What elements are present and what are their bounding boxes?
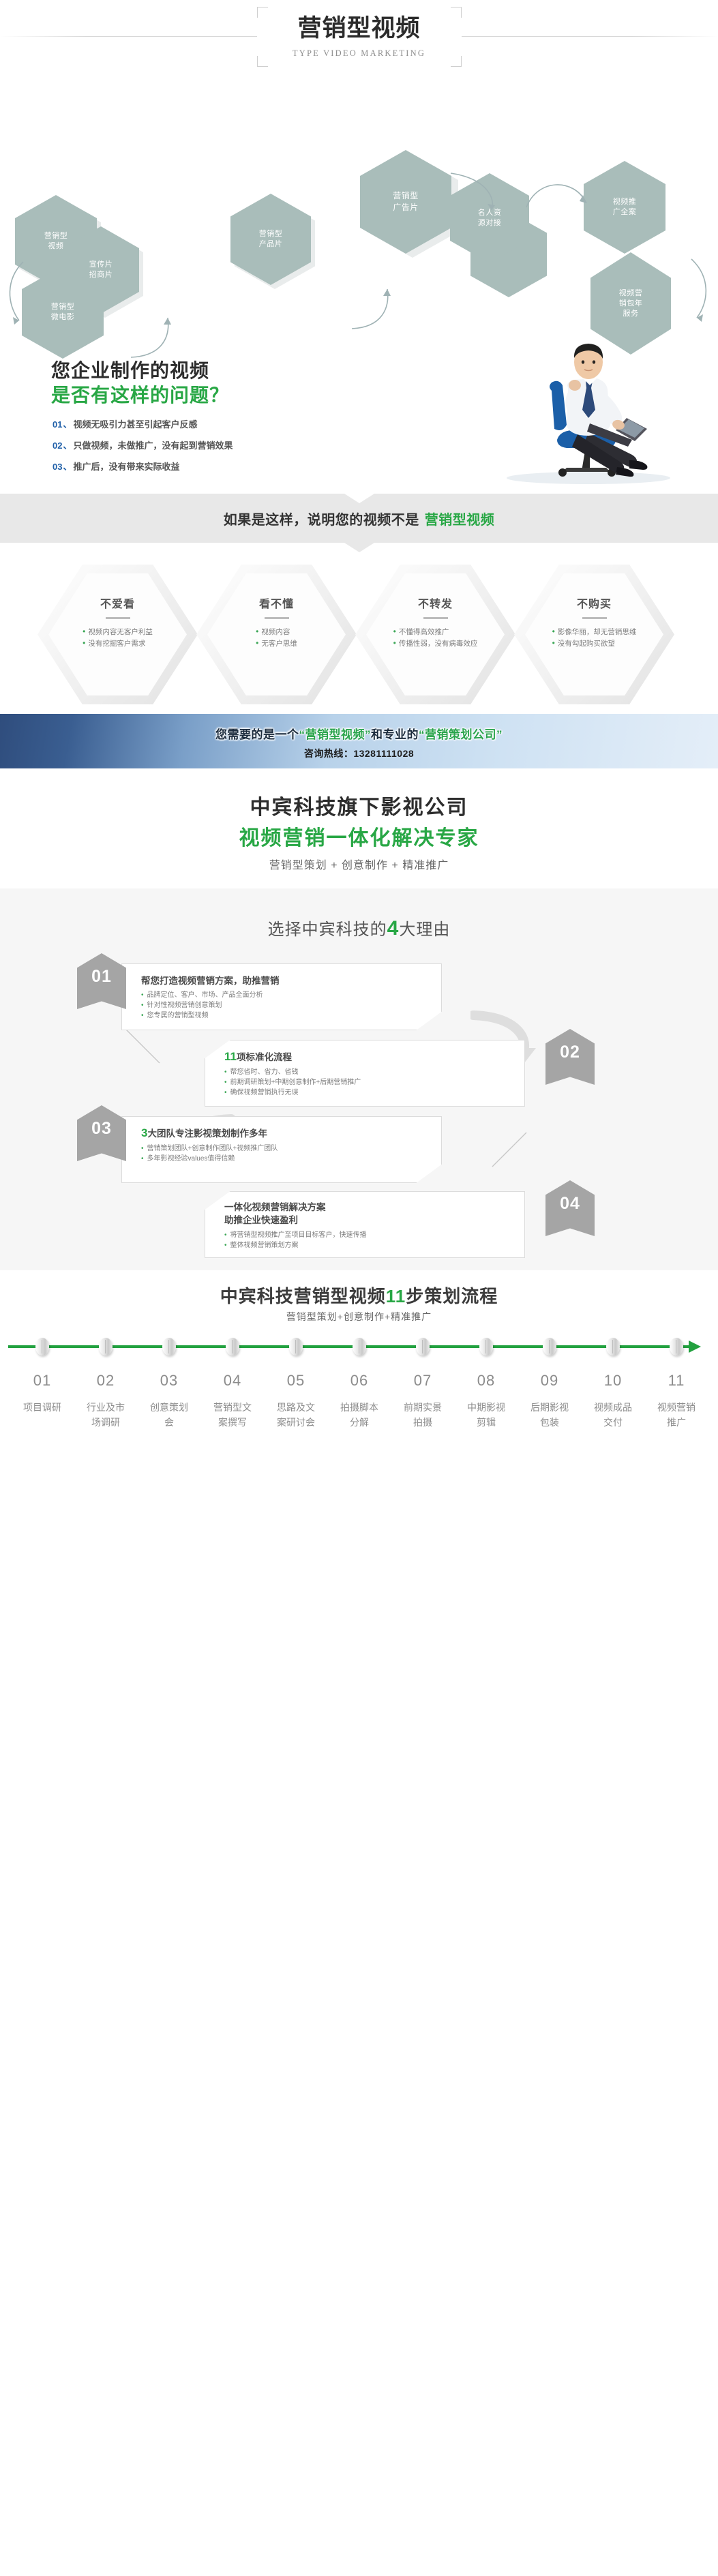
step-number: 04 [212, 1371, 253, 1390]
timeline-node-icon [162, 1338, 176, 1356]
ribbon-notch-bottom-icon [344, 543, 374, 552]
list-item: 将营销型视频推广至项目目标客户，快速传播 [224, 1230, 524, 1240]
step-label: 项目调研 [22, 1400, 63, 1415]
list-item: 确保视频营销执行无误 [224, 1088, 524, 1098]
corner-bracket-icon [451, 7, 462, 18]
timeline-node-icon [289, 1338, 303, 1356]
cta-text-a: 您需要的是一个 [215, 728, 299, 741]
timeline-step-2[interactable]: 03 创意策划会 [149, 1371, 190, 1430]
problem-heading-line1: 您企业制作的视频 [51, 356, 209, 383]
company-line2: 视频营销一体化解决专家 [0, 823, 718, 854]
timeline-node-icon [606, 1338, 620, 1356]
hex-label: 视频推 广全案 [613, 197, 637, 218]
step-number: 03 [149, 1371, 190, 1390]
problem-statement-section: 您企业制作的视频 是否有这样的问题？ 01 、 视频无吸引力甚至引起客户反感 0… [0, 341, 718, 484]
step-label: 创意策划会 [149, 1400, 190, 1430]
page-title: 营销型视频 [257, 7, 462, 46]
timeline-step-9[interactable]: 10 视频成品交付 [593, 1371, 633, 1430]
list-item: 传播性弱，没有病毒效应 [393, 638, 478, 649]
reasons-title-suffix: 大理由 [399, 920, 450, 939]
card-heading-text: 大团队专注影视策划制作多年 [147, 1128, 267, 1139]
cta-hotline[interactable]: 咨询热线：13281111028 [0, 747, 718, 760]
card-body: 不转发 不懂得高效推广 传播性弱，没有病毒效应 [355, 565, 515, 704]
reason-badge-2: 03 [77, 1105, 126, 1161]
step-label: 前期实景拍摄 [402, 1400, 443, 1430]
list-item: 前期调研策划+中期创意制作+后期营销推广 [224, 1077, 524, 1088]
company-line3: 营销型策划 + 创意制作 + 精准推广 [0, 854, 718, 878]
timeline-step-10[interactable]: 11 视频营销推广 [656, 1371, 697, 1430]
card-bullet-list: 视频内容无客户利益 没有挖掘客户需求 [83, 626, 153, 649]
card-bullet-list: 将营销型视频推广至项目目标客户，快速传播 整体视频营销策划方案 [224, 1230, 524, 1250]
card-heading: 帮您打造视频营销方案，助推营销 [141, 973, 441, 987]
step-number: 10 [593, 1371, 633, 1390]
connector-line [488, 1131, 529, 1173]
card-title: 不转发 [418, 595, 453, 611]
reason-badge-3: 04 [545, 1180, 595, 1236]
card-heading-number: 11 [224, 1050, 237, 1063]
page-header: 营销型视频 TYPE VIDEO MARKETING [0, 0, 718, 116]
connector-line [123, 1028, 164, 1069]
businessman-photo [486, 338, 691, 484]
process-timeline-section: 中宾科技营销型视频11步策划流程 营销型策划+创意制作+精准推广 01 项目调研… [0, 1270, 718, 1563]
list-item: 您专属的营销型视频 [141, 1010, 441, 1021]
list-item: 02 、 只做视频，未做推广，没有起到营销效果 [53, 438, 233, 451]
list-item: 没有勾起购买欲望 [552, 638, 637, 649]
list-item: 针对性视频营销创意策划 [141, 1000, 441, 1010]
item-number: 03 [53, 462, 62, 472]
timeline-node-icon [353, 1338, 366, 1356]
list-item: 影像华丽，却无营销思维 [552, 626, 637, 638]
problem-card-3[interactable]: 不购买 影像华丽，却无营销思维 没有勾起购买欲望 [514, 565, 674, 704]
card-bullet-list: 不懂得高效推广 传播性弱，没有病毒效应 [393, 626, 478, 649]
list-item: 视频内容无客户利益 [83, 626, 153, 638]
item-separator: 、 [63, 417, 72, 430]
timeline-node-icon [670, 1338, 683, 1356]
corner-bracket-icon [257, 7, 268, 18]
cta-highlight-2: “营销策划公司” [419, 728, 503, 741]
hex-item-3[interactable]: 营销型 广告片 [360, 150, 451, 254]
reason-card-1[interactable]: 11项标准化流程 帮您省时、省力、省钱 前期调研策划+中期创意制作+后期营销推广… [205, 1040, 525, 1107]
step-label: 视频营销推广 [656, 1400, 697, 1430]
timeline-step-3[interactable]: 04 营销型文案撰写 [212, 1371, 253, 1430]
flow-arrow-icon [447, 169, 515, 217]
list-item: 无客户思维 [256, 638, 297, 649]
card-content: 帮您打造视频营销方案，助推营销 品牌定位、客户、市场、产品全面分析 针对性视频营… [122, 964, 441, 1021]
problem-card-1[interactable]: 看不懂 视频内容 无客户思维 [196, 565, 357, 704]
list-item: 03 、 推广后，没有带来实际收益 [53, 460, 233, 473]
reason-card-3[interactable]: 一体化视频营销解决方案 助推企业快速盈利 将营销型视频推广至项目目标客户，快速传… [205, 1191, 525, 1258]
badge-number: 03 [91, 1119, 112, 1139]
timeline-node-icon [226, 1338, 239, 1356]
flow-arrow-icon [4, 259, 34, 327]
step-label: 视频成品交付 [593, 1400, 633, 1430]
hex-label: 营销型 产品片 [259, 229, 283, 250]
card-content: 一体化视频营销解决方案 助推企业快速盈利 将营销型视频推广至项目目标客户，快速传… [205, 1192, 524, 1250]
step-number: 01 [22, 1371, 63, 1390]
reasons-title-number: 4 [387, 917, 400, 940]
list-item: 没有挖掘客户需求 [83, 638, 153, 649]
timeline-step-0[interactable]: 01 项目调研 [22, 1371, 63, 1415]
problem-heading-line2: 是否有这样的问题？ [51, 380, 229, 408]
card-bullet-list: 品牌定位、客户、市场、产品全面分析 针对性视频营销创意策划 您专属的营销型视频 [141, 990, 441, 1021]
card-content: 3大团队专注影视策划制作多年 营销策划团队+创意制作团队+视频推广团队 多年影视… [122, 1117, 441, 1164]
ribbon-text-wrap: 如果是这样，说明您的视频不是 营销型视频 [0, 494, 718, 543]
card-heading: 一体化视频营销解决方案 助推企业快速盈利 [224, 1201, 524, 1227]
card-title: 不爱看 [100, 595, 135, 611]
item-text: 只做视频，未做推广，没有起到营销效果 [73, 438, 233, 451]
step-number: 08 [466, 1371, 507, 1390]
problem-hex-cards: 不爱看 视频内容无客户利益 没有挖掘客户需求 看不懂 视频内容 无客户思维 [0, 565, 718, 704]
card-bullet-list: 影像华丽，却无营销思维 没有勾起购买欲望 [552, 626, 637, 649]
timeline-node-icon [479, 1338, 493, 1356]
step-number: 02 [85, 1371, 126, 1390]
item-text: 推广后，没有带来实际收益 [73, 460, 179, 473]
item-text: 视频无吸引力甚至引起客户反感 [73, 417, 197, 430]
timeline-title-number: 11 [386, 1286, 406, 1306]
cta-highlight-1: “营销型视频” [299, 728, 372, 741]
corner-bracket-icon [451, 56, 462, 67]
card-title: 不购买 [577, 595, 612, 611]
flow-arrow-icon [349, 285, 404, 333]
badge-number: 01 [91, 967, 112, 987]
step-label: 营销型文案撰写 [212, 1400, 253, 1430]
timeline-step-1[interactable]: 02 行业及市场调研 [85, 1371, 126, 1430]
card-divider [423, 617, 448, 619]
problem-list: 01 、 视频无吸引力甚至引起客户反感 02 、 只做视频，未做推广，没有起到营… [53, 417, 233, 481]
list-item: 整体视频营销策划方案 [224, 1240, 524, 1250]
step-number: 07 [402, 1371, 443, 1390]
item-number: 02 [53, 440, 62, 451]
company-line1: 中宾科技旗下影视公司 [0, 793, 718, 823]
step-number: 06 [339, 1371, 380, 1390]
reasons-title-prefix: 选择中宾科技的 [268, 920, 387, 939]
card-bullet-list: 视频内容 无客户思维 [256, 626, 297, 649]
timeline-step-8[interactable]: 09 后期影视包装 [529, 1371, 570, 1430]
timeline-title-b: 步策划流程 [406, 1286, 498, 1306]
reason-badge-1: 02 [545, 1029, 595, 1085]
card-divider [582, 617, 607, 619]
hex-label: 营销型 微电影 [51, 302, 75, 323]
timeline-node-icon [99, 1338, 113, 1356]
reasons-title: 选择中宾科技的4大理由 [0, 916, 718, 940]
cta-banner: 您需要的是一个“营销型视频”和专业的“营销策划公司” 咨询热线：13281111… [0, 704, 718, 779]
step-label: 中期影视剪辑 [466, 1400, 507, 1430]
list-item: 多年影视经验values值得信赖 [141, 1154, 441, 1164]
card-title: 看不懂 [259, 595, 294, 611]
list-item: 01 、 视频无吸引力甚至引起客户反感 [53, 417, 233, 430]
step-label: 行业及市场调研 [85, 1400, 126, 1430]
step-number: 11 [656, 1371, 697, 1390]
timeline-step-5[interactable]: 06 拍摄脚本分解 [339, 1371, 380, 1430]
card-bullet-list: 营销策划团队+创意制作团队+视频推广团队 多年影视经验values值得信赖 [141, 1143, 441, 1164]
reason-badge-0: 01 [77, 953, 126, 1009]
card-divider [265, 617, 289, 619]
hex-label: 营销型 广告片 [393, 190, 419, 213]
timeline-subtitle: 营销型策划+创意制作+精准推广 [0, 1310, 718, 1323]
hex-label: 视频营 销包年 服务 [619, 288, 643, 319]
flow-arrow-icon [683, 256, 713, 325]
timeline-node-icon [543, 1338, 556, 1356]
card-heading: 11项标准化流程 [224, 1049, 524, 1064]
step-label: 后期影视包装 [529, 1400, 570, 1430]
timeline-step-7[interactable]: 08 中期影视剪辑 [466, 1371, 507, 1430]
step-number: 05 [275, 1371, 316, 1390]
badge-number: 04 [560, 1194, 580, 1214]
ribbon-highlight: 营销型视频 [425, 509, 495, 528]
problem-card-2[interactable]: 不转发 不懂得高效推广 传播性弱，没有病毒效应 [355, 565, 515, 704]
reason-card-0[interactable]: 帮您打造视频营销方案，助推营销 品牌定位、客户、市场、产品全面分析 针对性视频营… [121, 963, 442, 1030]
hex-label: 宣传片 招商片 [89, 260, 113, 280]
badge-number: 02 [560, 1043, 580, 1062]
conclusion-ribbon: 如果是这样，说明您的视频不是 营销型视频 [0, 484, 718, 565]
card-heading-text: 项标准化流程 [237, 1052, 292, 1062]
service-hexagon-diagram: 营销型 视频 宣传片 招商片 营销型 产品片 营销型 广告片 名人资 源对接 视… [0, 116, 718, 341]
card-body: 不爱看 视频内容无客户利益 没有挖掘客户需求 [38, 565, 198, 704]
timeline-title: 中宾科技营销型视频11步策划流程 [0, 1283, 718, 1308]
flow-arrow-icon [524, 175, 599, 215]
card-body: 不购买 影像华丽，却无营销思维 没有勾起购买欲望 [514, 565, 674, 704]
card-heading: 3大团队专注影视策划制作多年 [141, 1126, 441, 1140]
item-number: 01 [53, 419, 62, 430]
hex-item-2[interactable]: 营销型 产品片 [230, 194, 311, 285]
timeline-step-6[interactable]: 07 前期实景拍摄 [402, 1371, 443, 1430]
card-divider [106, 617, 130, 619]
step-number: 09 [529, 1371, 570, 1390]
list-item: 视频内容 [256, 626, 297, 638]
step-label: 思路及文案研讨会 [275, 1400, 316, 1430]
reasons-section: 选择中宾科技的4大理由 帮您打造视频营销方案，助推营销 品牌定位、客户、市场、产… [0, 888, 718, 1270]
timeline-step-4[interactable]: 05 思路及文案研讨会 [275, 1371, 316, 1430]
page-subtitle-en: TYPE VIDEO MARKETING [257, 46, 462, 60]
ribbon-text: 如果是这样，说明您的视频不是 [224, 509, 419, 528]
item-separator: 、 [63, 438, 72, 451]
reason-card-2[interactable]: 3大团队专注影视策划制作多年 营销策划团队+创意制作团队+视频推广团队 多年影视… [121, 1116, 442, 1183]
timeline-node-icon [416, 1338, 430, 1356]
cta-text-b: 和专业的 [371, 728, 419, 741]
item-separator: 、 [63, 460, 72, 473]
list-item: 帮您省时、省力、省钱 [224, 1067, 524, 1077]
corner-bracket-icon [257, 56, 268, 67]
list-item: 不懂得高效推广 [393, 626, 478, 638]
marketing-video-landing-page: 营销型视频 TYPE VIDEO MARKETING 营销型 视频 宣传片 招商… [0, 0, 718, 1563]
timeline-arrow-icon [689, 1341, 701, 1353]
timeline-node-icon [35, 1338, 49, 1356]
cta-line1: 您需要的是一个“营销型视频”和专业的“营销策划公司” [0, 725, 718, 742]
company-intro: 中宾科技旗下影视公司 视频营销一体化解决专家 营销型策划 + 创意制作 + 精准… [0, 779, 718, 888]
card-content: 11项标准化流程 帮您省时、省力、省钱 前期调研策划+中期创意制作+后期营销推广… [205, 1040, 524, 1098]
list-item: 品牌定位、客户、市场、产品全面分析 [141, 990, 441, 1000]
list-item: 营销策划团队+创意制作团队+视频推广团队 [141, 1143, 441, 1154]
problem-card-0[interactable]: 不爱看 视频内容无客户利益 没有挖掘客户需求 [38, 565, 198, 704]
timeline-title-a: 中宾科技营销型视频 [220, 1286, 386, 1306]
card-bullet-list: 帮您省时、省力、省钱 前期调研策划+中期创意制作+后期营销推广 确保视频营销执行… [224, 1067, 524, 1098]
card-body: 看不懂 视频内容 无客户思维 [196, 565, 357, 704]
header-title-box: 营销型视频 TYPE VIDEO MARKETING [257, 7, 462, 67]
step-label: 拍摄脚本分解 [339, 1400, 380, 1430]
